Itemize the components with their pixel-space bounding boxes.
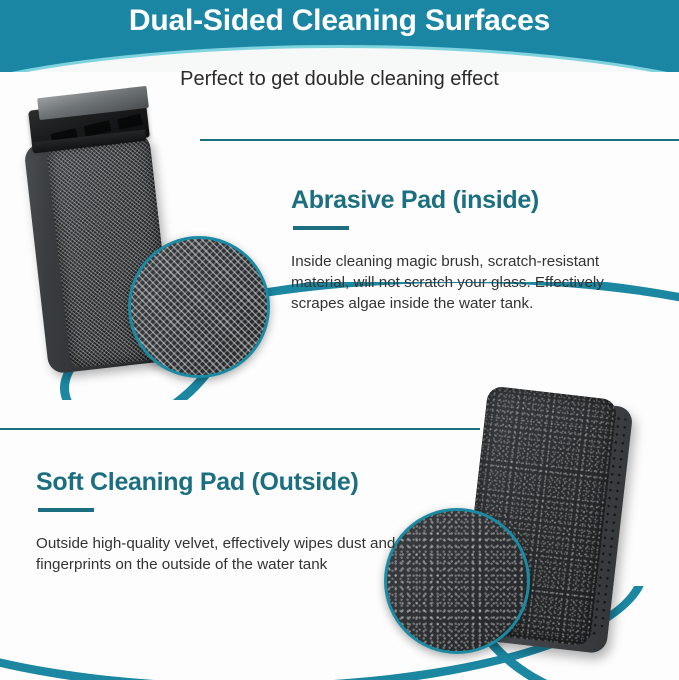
abrasive-pad-heading: Abrasive Pad (inside) [291, 186, 661, 215]
abrasive-pad-text-block: Abrasive Pad (inside) Inside cleaning ma… [291, 186, 661, 315]
product-infographic: Dual-Sided Cleaning Surfaces Perfect to … [0, 0, 679, 680]
clip-slot [117, 114, 143, 130]
heading-underline [293, 226, 349, 230]
abrasive-pad-description: Inside cleaning magic brush, scratch-res… [291, 252, 661, 315]
soft-pad-text-block: Soft Cleaning Pad (Outside) Outside high… [36, 468, 411, 576]
heading-underline [38, 508, 94, 512]
soft-pad-heading: Soft Cleaning Pad (Outside) [36, 468, 411, 497]
page-title: Dual-Sided Cleaning Surfaces [0, 4, 679, 38]
soft-pad-description: Outside high-quality velvet, effectively… [36, 534, 411, 576]
abrasive-texture-magnifier [128, 236, 270, 378]
soft-pad-illustration [390, 388, 660, 668]
page-subtitle: Perfect to get double cleaning effect [0, 68, 679, 91]
divider-rule-top [200, 139, 679, 141]
